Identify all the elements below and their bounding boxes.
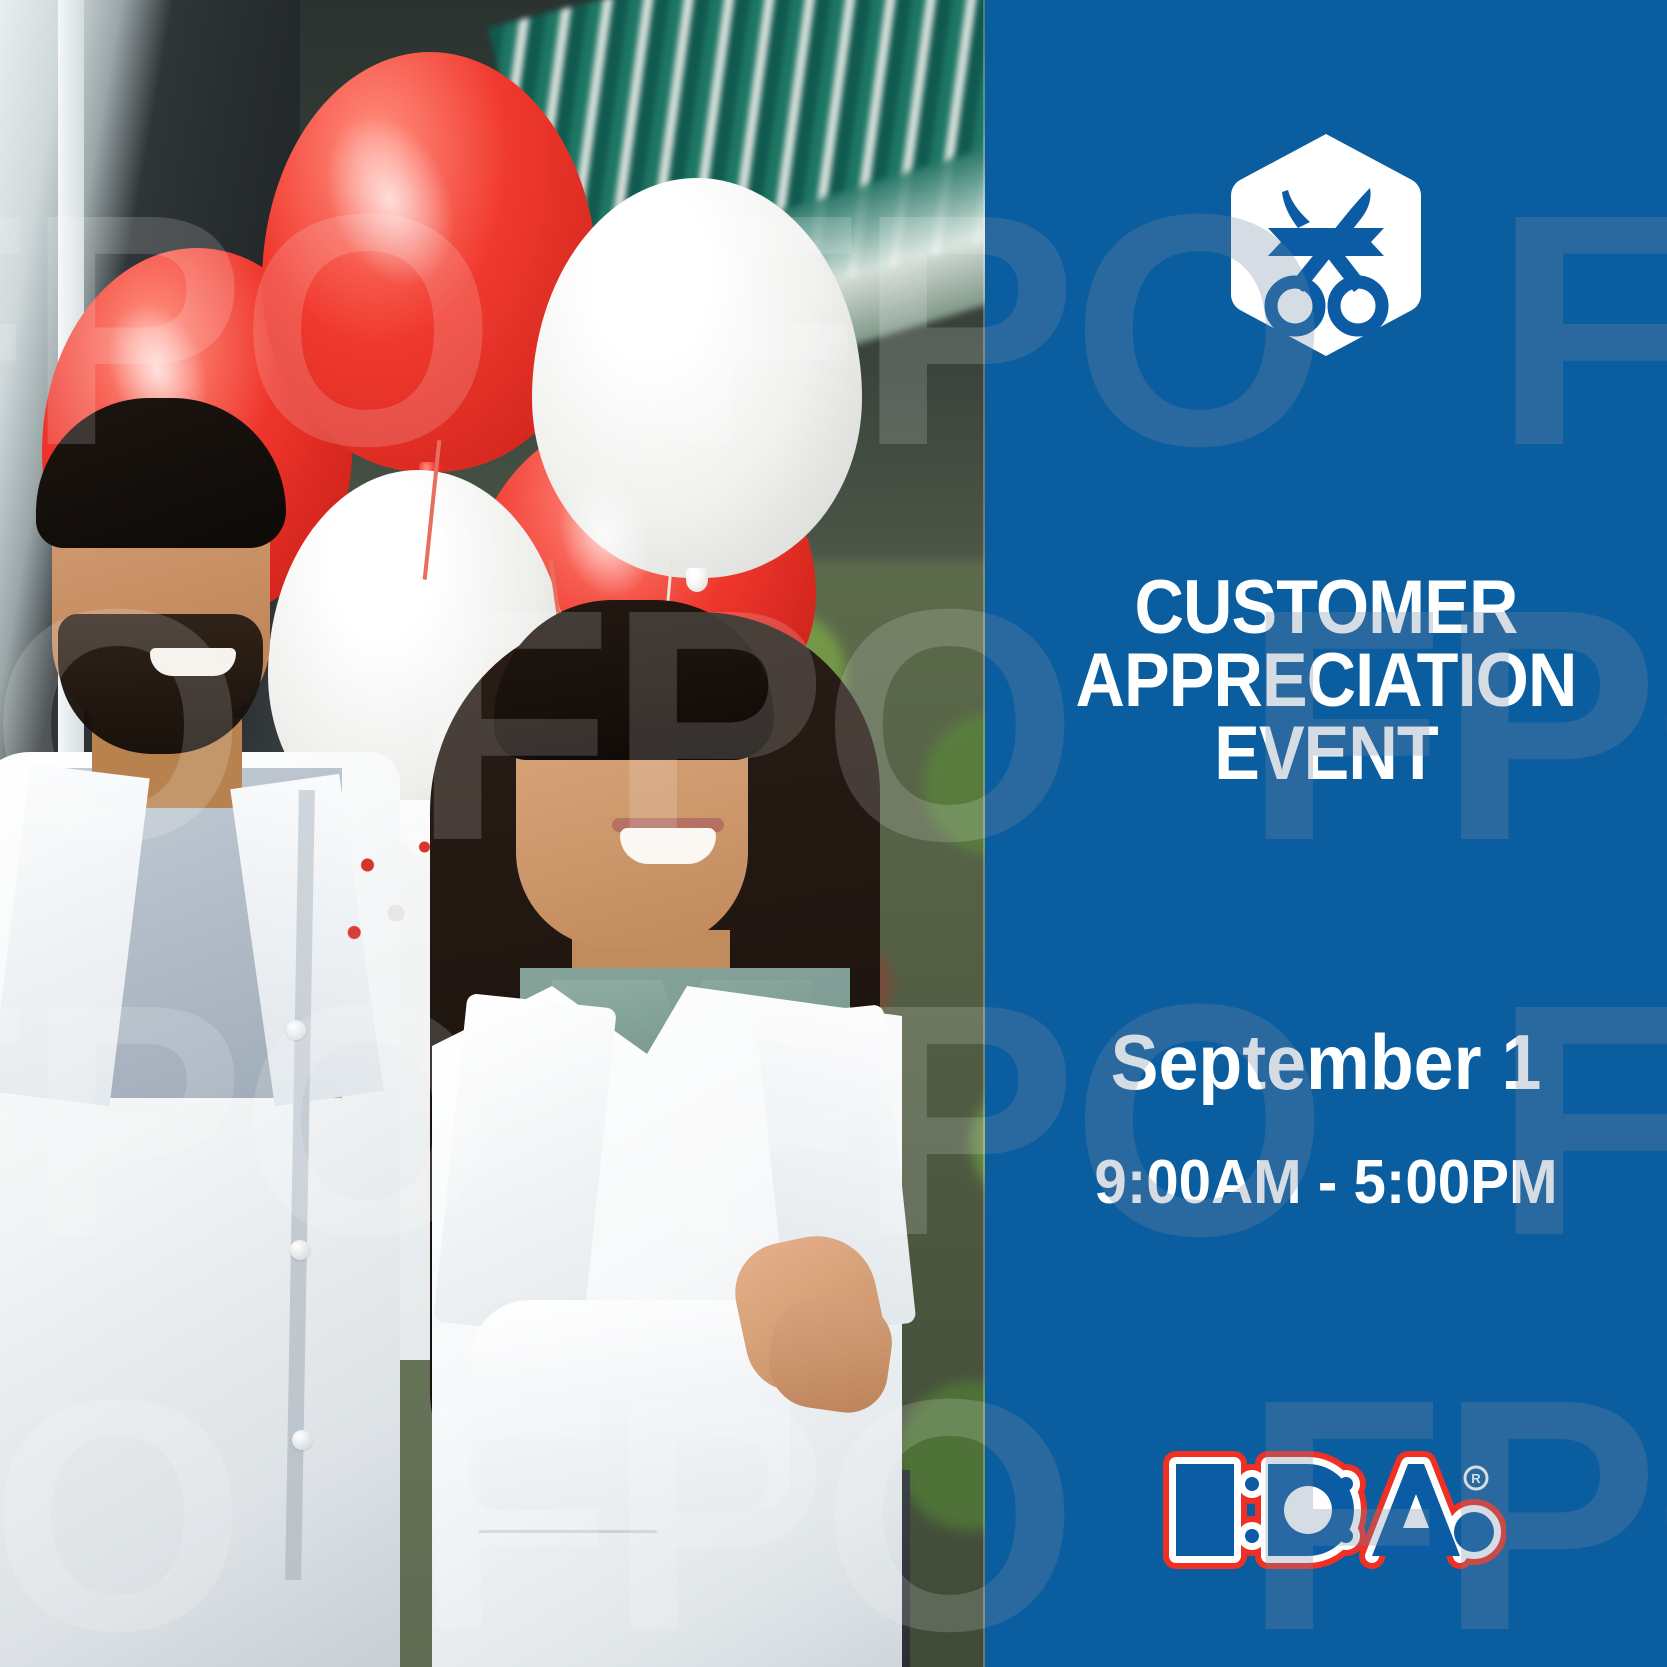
coat-button xyxy=(290,1240,310,1260)
event-icon-wrap xyxy=(985,132,1667,358)
logo-dot xyxy=(1339,1477,1353,1491)
logo-letter-i xyxy=(1176,1464,1234,1556)
event-time: 9:00AM - 5:00PM xyxy=(1005,1150,1646,1215)
ida-logo-wrap: R xyxy=(985,1420,1667,1600)
logo-dot xyxy=(1245,1529,1259,1543)
male-pharmacist-smile xyxy=(150,648,236,676)
page-title: CUSTOMER APPRECIATION EVENT xyxy=(1019,572,1633,791)
ribbon-cutting-scissors-hexagon-icon xyxy=(1228,132,1424,358)
info-panel: CUSTOMER APPRECIATION EVENT September 1 … xyxy=(985,0,1667,1667)
logo-dot xyxy=(1245,1477,1259,1491)
headline-line-3: EVENT xyxy=(1019,718,1633,791)
ida-logo: R xyxy=(1146,1420,1506,1600)
headline-line-1: CUSTOMER xyxy=(1019,572,1633,645)
registered-trademark-icon: R xyxy=(1465,1467,1487,1489)
coat-button xyxy=(286,1020,306,1040)
logo-dot xyxy=(1339,1529,1353,1543)
svg-text:R: R xyxy=(1471,1471,1481,1486)
logo-dot xyxy=(1454,1512,1494,1552)
logo-d-counter xyxy=(1284,1486,1332,1534)
poster-canvas: CUSTOMER APPRECIATION EVENT September 1 … xyxy=(0,0,1667,1667)
event-date: September 1 xyxy=(1012,1022,1639,1104)
lab-coat-pocket xyxy=(478,1530,658,1667)
female-pharmacist-smile xyxy=(620,828,716,864)
coat-button xyxy=(292,1430,312,1450)
headline-line-2: APPRECIATION xyxy=(1019,645,1633,718)
pharmacists-with-balloons-photo xyxy=(0,0,985,1667)
